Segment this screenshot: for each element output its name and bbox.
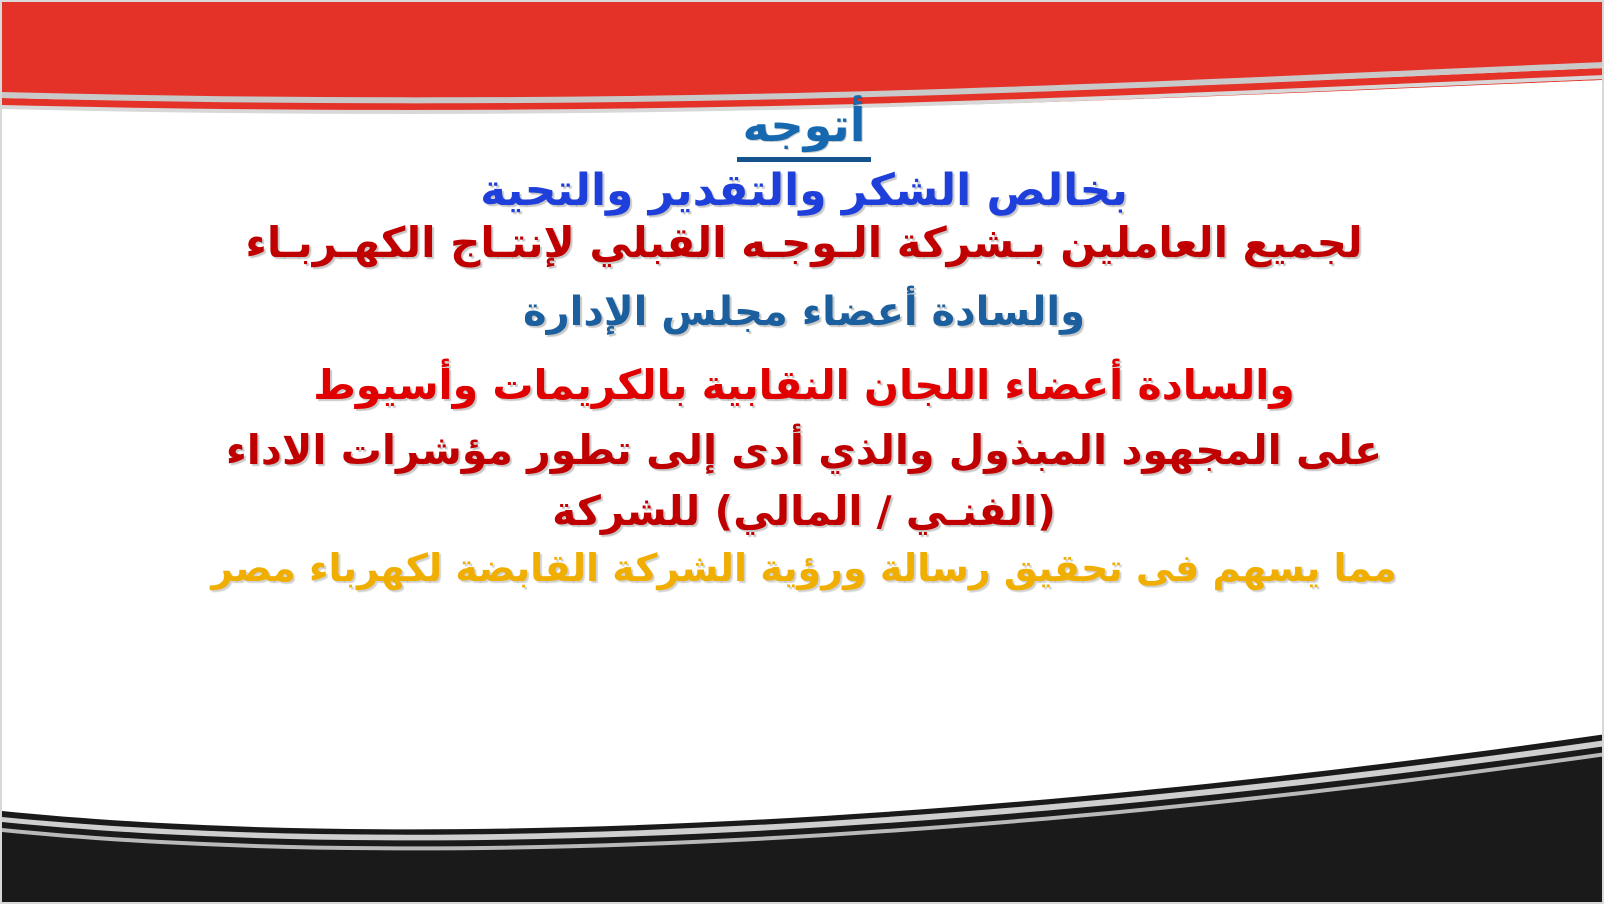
slide-content: أتوجه بخالص الشكر والتقدير والتحية لجميع… xyxy=(2,98,1604,588)
board-line: والسادة أعضاء مجلس الإدارة xyxy=(2,291,1604,333)
page-title: أتوجه xyxy=(737,98,872,162)
page-number: ٤ xyxy=(88,768,99,792)
union-line: والسادة أعضاء اللجان النقابية بالكريمات … xyxy=(2,364,1604,407)
slide: أتوجه بخالص الشكر والتقدير والتحية لجميع… xyxy=(0,0,1604,904)
staff-line: لجميع العاملين بـشركة الـوجـه القبلي لإن… xyxy=(2,221,1604,266)
mission-line: مما يسهم فى تحقيق رسالة ورؤية الشركة الق… xyxy=(2,548,1604,588)
indicators-line: (الفنـي / المالي) للشركة xyxy=(2,490,1604,533)
thanks-line: بخالص الشكر والتقدير والتحية xyxy=(2,168,1604,215)
page-title-wrap: أتوجه xyxy=(2,98,1604,162)
effort-line: على المجهود المبذول والذي أدى إلى تطور م… xyxy=(2,429,1604,472)
bottom-banner-decoration xyxy=(2,712,1604,902)
